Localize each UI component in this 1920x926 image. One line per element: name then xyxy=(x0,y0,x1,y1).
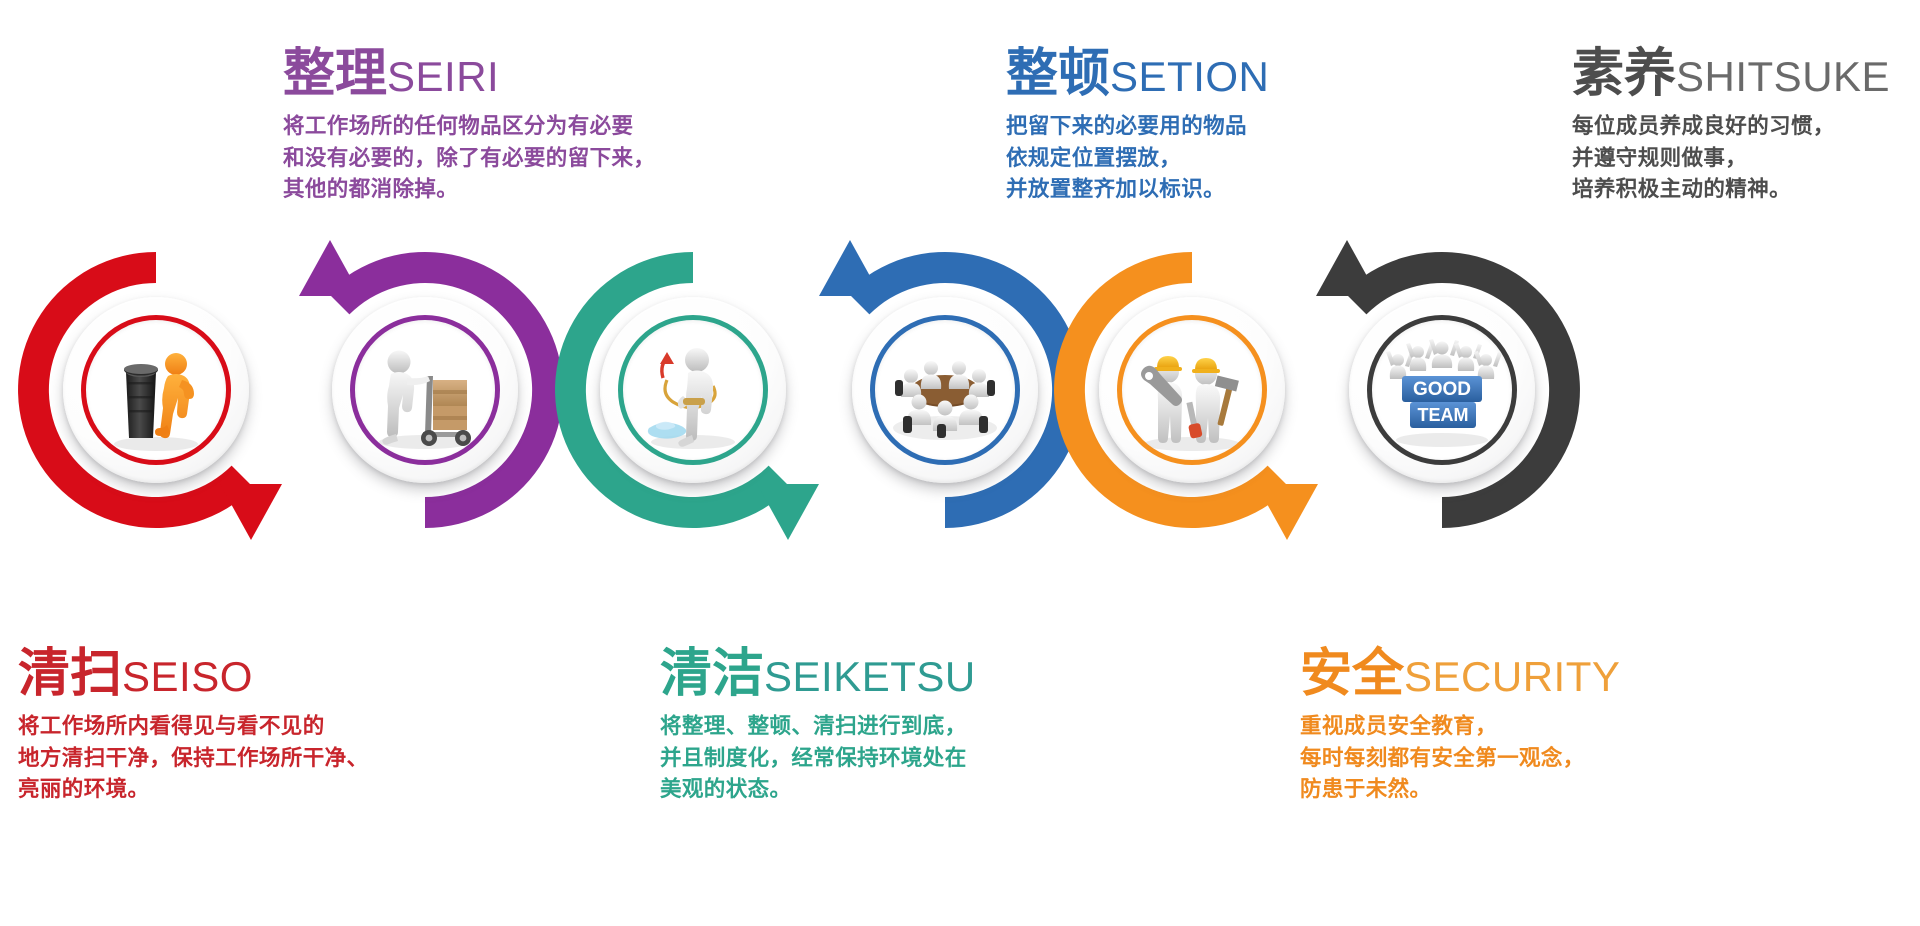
shitsuke-line-2: 并遵守规则做事， xyxy=(1572,143,1890,175)
setion-heading: 整顿SETION xyxy=(1006,48,1269,100)
seiso-line-3: 亮丽的环境。 xyxy=(18,774,368,806)
seiri-line-3: 其他的都消除掉。 xyxy=(283,174,655,206)
seiso-line-1: 将工作场所内看得见与看不见的 xyxy=(18,711,368,743)
seiketsu-heading: 清洁SEIKETSU xyxy=(660,648,976,700)
shitsuke-line-1: 每位成员养成良好的习惯， xyxy=(1572,111,1890,143)
circle-seiso[interactable] xyxy=(6,240,306,540)
circle-inner-ring xyxy=(81,315,231,465)
security-line-3: 防患于未然。 xyxy=(1300,774,1620,806)
handtruck-person-icon xyxy=(355,320,495,460)
setion-heading-en: SETION xyxy=(1110,53,1269,100)
seiketsu-description: 将整理、整顿、清扫进行到底， 并且制度化，经常保持环境处在 美观的状态。 xyxy=(660,711,976,806)
good-team-icon: GOOD TEAM xyxy=(1372,320,1512,460)
seiri-description: 将工作场所的任何物品区分为有必要 和没有必要的，除了有必要的留下来， 其他的都消… xyxy=(283,111,655,206)
text-block-seiketsu: 清洁SEIKETSU 将整理、整顿、清扫进行到底， 并且制度化，经常保持环境处在… xyxy=(660,648,976,806)
text-block-shitsuke: 素养SHITSUKE 每位成员养成良好的习惯， 并遵守规则做事， 培养积极主动的… xyxy=(1572,48,1890,206)
seiketsu-line-2: 并且制度化，经常保持环境处在 xyxy=(660,743,976,775)
seiso-heading-en: SEISO xyxy=(122,653,253,700)
circle-inner-ring xyxy=(870,315,1020,465)
shitsuke-heading-cn: 素养 xyxy=(1572,45,1676,103)
mopping-person-icon xyxy=(623,320,763,460)
seiketsu-heading-en: SEIKETSU xyxy=(764,653,976,700)
text-block-security: 安全SECURITY 重视成员安全教育， 每时每刻都有安全第一观念， 防患于未然… xyxy=(1300,648,1620,806)
seiri-heading-cn: 整理 xyxy=(283,45,387,103)
seiso-line-2: 地方清扫干净，保持工作场所干净、 xyxy=(18,743,368,775)
text-block-seiso: 清扫SEISO 将工作场所内看得见与看不见的 地方清扫干净，保持工作场所干净、 … xyxy=(18,648,368,806)
security-heading-en: SECURITY xyxy=(1404,653,1620,700)
setion-heading-cn: 整顿 xyxy=(1006,45,1110,103)
text-block-seiri: 整理SEIRI 将工作场所的任何物品区分为有必要 和没有必要的，除了有必要的留下… xyxy=(283,48,655,206)
seiketsu-line-3: 美观的状态。 xyxy=(660,774,976,806)
seiso-description: 将工作场所内看得见与看不见的 地方清扫干净，保持工作场所干净、 亮丽的环境。 xyxy=(18,711,368,806)
seiso-heading: 清扫SEISO xyxy=(18,648,368,700)
meeting-table-icon xyxy=(875,320,1015,460)
seiri-line-2: 和没有必要的，除了有必要的留下来， xyxy=(283,143,655,175)
workers-tools-icon xyxy=(1122,320,1262,460)
circle-inner-ring xyxy=(1117,315,1267,465)
setion-line-1: 把留下来的必要用的物品 xyxy=(1006,111,1269,143)
circle-inner-ring: GOOD TEAM xyxy=(1367,315,1517,465)
seiri-heading: 整理SEIRI xyxy=(283,48,655,100)
security-line-1: 重视成员安全教育， xyxy=(1300,711,1620,743)
circle-inner-ring xyxy=(618,315,768,465)
setion-line-3: 并放置整齐加以标识。 xyxy=(1006,174,1269,206)
circle-shitsuke[interactable]: GOOD TEAM xyxy=(1292,240,1592,540)
seiketsu-line-1: 将整理、整顿、清扫进行到底， xyxy=(660,711,976,743)
setion-line-2: 依规定位置摆放， xyxy=(1006,143,1269,175)
infographic-canvas: GOOD TEAM 整理SEIRI 将工作场所的任何物品区分为有必要 和没有必要… xyxy=(0,0,1920,926)
security-heading: 安全SECURITY xyxy=(1300,648,1620,700)
svg-text:TEAM: TEAM xyxy=(1418,405,1469,425)
circle-seiri[interactable] xyxy=(275,240,575,540)
seiri-heading-en: SEIRI xyxy=(387,53,499,100)
shitsuke-description: 每位成员养成良好的习惯， 并遵守规则做事， 培养积极主动的精神。 xyxy=(1572,111,1890,206)
security-line-2: 每时每刻都有安全第一观念， xyxy=(1300,743,1620,775)
security-heading-cn: 安全 xyxy=(1300,645,1404,703)
shitsuke-heading: 素养SHITSUKE xyxy=(1572,48,1890,100)
seiri-line-1: 将工作场所的任何物品区分为有必要 xyxy=(283,111,655,143)
svg-text:GOOD: GOOD xyxy=(1413,379,1471,400)
seiketsu-heading-cn: 清洁 xyxy=(660,645,764,703)
shitsuke-heading-en: SHITSUKE xyxy=(1676,53,1890,100)
trashbin-person-icon xyxy=(86,320,226,460)
shitsuke-line-3: 培养积极主动的精神。 xyxy=(1572,174,1890,206)
circle-inner-ring xyxy=(350,315,500,465)
text-block-setion: 整顿SETION 把留下来的必要用的物品 依规定位置摆放， 并放置整齐加以标识。 xyxy=(1006,48,1269,206)
setion-description: 把留下来的必要用的物品 依规定位置摆放， 并放置整齐加以标识。 xyxy=(1006,111,1269,206)
seiso-heading-cn: 清扫 xyxy=(18,645,122,703)
security-description: 重视成员安全教育， 每时每刻都有安全第一观念， 防患于未然。 xyxy=(1300,711,1620,806)
